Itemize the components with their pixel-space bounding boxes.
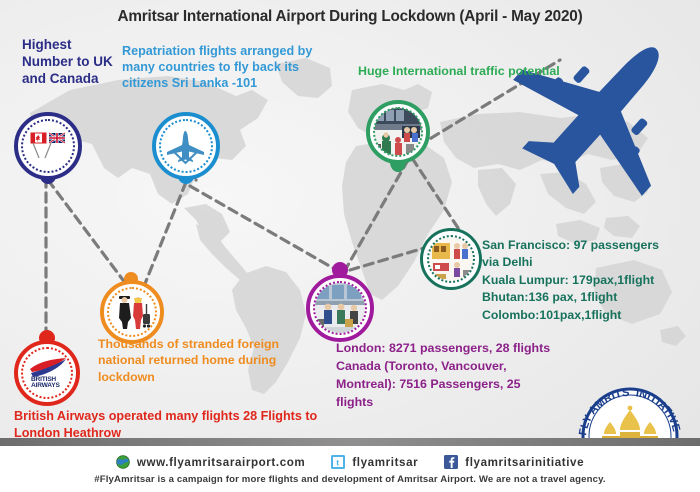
annotation-uk-canada: Highest Number to UK and Canada xyxy=(22,36,122,87)
pin-uk-canada[interactable] xyxy=(14,112,82,190)
annotation-british-airways: British Airways operated many flights 28… xyxy=(14,408,344,441)
crew-traveler-icon xyxy=(114,292,152,332)
page-title: Amritsar International Airport During Lo… xyxy=(0,8,700,26)
pin-international-traffic[interactable] xyxy=(366,100,430,176)
annotation-huge-traffic: Huge International traffic potential xyxy=(358,64,588,80)
facebook-link[interactable]: flyamritsarinitiative xyxy=(444,455,584,469)
airport-photo-icon xyxy=(315,283,365,333)
footer-disclaimer: #FlyAmritsar is a campaign for more flig… xyxy=(0,474,700,485)
pin-london-canada[interactable] xyxy=(306,262,374,344)
route-kuala-lumpur: Kuala Lumpur: 179pax,1flight xyxy=(482,272,698,289)
pin-asia-routes[interactable] xyxy=(420,222,482,294)
svg-text:t: t xyxy=(336,459,340,469)
pin-stranded[interactable] xyxy=(100,272,164,346)
family-illustration-icon xyxy=(429,237,473,281)
svg-text:AIRWAYS: AIRWAYS xyxy=(31,382,60,388)
flags-icon xyxy=(30,130,68,164)
globe-icon xyxy=(116,455,130,469)
annotation-repatriation: Repatriation flights arranged by many co… xyxy=(122,44,337,92)
website-label: www.flyamritsarairport.com xyxy=(137,456,306,469)
pin-repatriation[interactable] xyxy=(152,112,220,190)
pin-british-airways[interactable]: BRITISH AIRWAYS xyxy=(14,330,80,408)
route-colombo: Colombo:101pax,1flight xyxy=(482,307,698,324)
travelers-photo-icon xyxy=(374,108,422,156)
airplane-icon xyxy=(166,126,206,166)
route-canada-line2: Montreal): 7516 Passengers, 25 xyxy=(336,376,586,394)
green-routes-list: San Francisco: 97 passengers via Delhi K… xyxy=(482,237,698,324)
route-via-delhi: via Delhi xyxy=(482,254,698,271)
route-canada-line3: flights xyxy=(336,394,586,412)
facebook-handle: flyamritsarinitiative xyxy=(465,456,584,469)
website-link[interactable]: www.flyamritsarairport.com xyxy=(116,455,306,469)
route-bhutan: Bhutan:136 pax, 1flight xyxy=(482,289,698,306)
british-airways-logo-icon: BRITISH AIRWAYS xyxy=(26,356,68,388)
route-canada-line1: Canada (Toronto, Vancouver, xyxy=(336,358,586,376)
twitter-icon: t xyxy=(331,455,345,469)
footer-links: www.flyamritsarairport.com t flyamritsar… xyxy=(0,452,700,472)
route-san-francisco: San Francisco: 97 passengers xyxy=(482,237,698,254)
airplane-silhouette-icon xyxy=(505,22,700,207)
twitter-handle: flyamritsar xyxy=(352,456,418,469)
infographic-canvas: Amritsar International Airport During Lo… xyxy=(0,0,700,492)
footer: www.flyamritsarairport.com t flyamritsar… xyxy=(0,446,700,492)
facebook-icon xyxy=(444,455,458,469)
purple-routes-list: London: 8271 passengers, 28 flights Cana… xyxy=(336,340,586,412)
twitter-link[interactable]: t flyamritsar xyxy=(331,455,418,469)
footer-divider-bar xyxy=(0,438,700,446)
